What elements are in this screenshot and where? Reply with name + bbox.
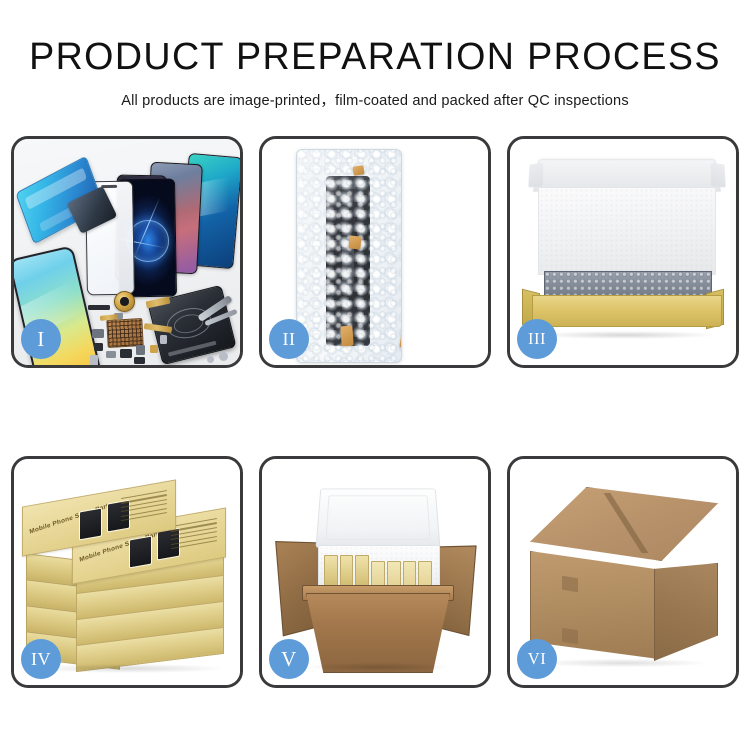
step-badge-3: III [517,319,557,359]
step-badge-1: I [21,319,61,359]
tape-strip [562,628,578,645]
inner-kraft-box [324,555,338,589]
drop-shadow [536,331,716,339]
tape-strip [562,576,578,593]
step-badge-5: V [269,639,309,679]
spare-part-chip [106,351,116,358]
spare-part-screw [219,352,228,361]
spare-part-chip [88,305,110,310]
inner-kraft-boxes [324,555,432,589]
page-subtitle: All products are image-printed，film-coat… [0,89,750,110]
process-step-panel-2[interactable]: II [259,136,491,368]
box-window-dark [79,507,102,540]
page-title: PRODUCT PREPARATION PROCESS [4,38,747,78]
process-step-panel-1[interactable]: I [11,136,243,368]
step-badge-4: IV [21,639,61,679]
drop-shadow [308,663,448,671]
process-step-panel-5[interactable]: V [259,456,491,688]
tape-strip [340,326,353,347]
spare-part-chip [94,343,103,351]
camera-lens-ring-icon [114,291,135,312]
spare-part-chip [160,335,167,344]
spare-part-screw [207,356,214,363]
spare-part-chip [120,349,132,358]
box-spec-lines [171,518,217,556]
spare-part-chip [90,355,98,365]
spare-part-chip [150,345,158,353]
box-window-dark [129,535,152,568]
spare-part-chip [136,345,145,355]
process-step-panel-6[interactable]: VI [507,456,739,688]
inner-kraft-box [355,555,369,589]
process-step-grid: I II [11,136,739,688]
step-badge-2: II [269,319,309,359]
carton-body-open-icon [306,593,450,673]
process-step-panel-3[interactable]: III [507,136,739,368]
step-badge-6: VI [517,639,557,679]
tape-strip [352,165,364,175]
white-foam-insert-icon [538,187,716,275]
bubble-wrap-bag-icon [296,149,402,363]
drop-shadow [540,659,704,667]
spare-part-chip [134,357,145,364]
box-spec-lines [121,490,167,528]
process-step-panel-4[interactable]: Mobile Phone Spare Parts Mobile Phone Sp… [11,456,243,688]
inner-kraft-box [340,555,354,589]
logic-board-icon [106,318,143,348]
drop-shadow [36,664,222,673]
kraft-box-open-icon [532,295,722,327]
foam-box-lid-icon [316,488,441,547]
header: PRODUCT PREPARATION PROCESS All products… [0,0,750,110]
tape-strip [348,235,361,249]
spare-part-chip [92,329,104,338]
